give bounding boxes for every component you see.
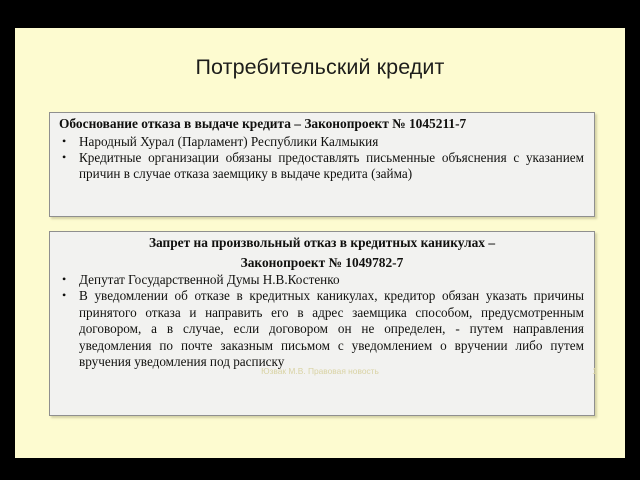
content-box-bill-1045211: Обоснование отказа в выдаче кредита – За… (49, 112, 595, 217)
box1-bullet-list: Народный Хурал (Парламент) Республики Ка… (50, 133, 594, 183)
footer-credit: Юзвак М.В. Правовая новость (15, 366, 625, 376)
list-item: В уведомлении об отказе в кредитных кани… (59, 288, 584, 370)
presentation-viewport: Потребительский кредит Обоснование отказ… (0, 0, 640, 480)
box2-heading-line-2: Законопроект № 1049782-7 (50, 252, 594, 272)
list-item: Кредитные организации обязаны предоставл… (59, 150, 584, 183)
slide-canvas: Потребительский кредит Обоснование отказ… (15, 28, 625, 458)
page-number: 1 (592, 366, 597, 376)
box2-bullet-list: Депутат Государственной Думы Н.В.Костенк… (50, 271, 594, 370)
box1-heading: Обоснование отказа в выдаче кредита – За… (50, 113, 594, 133)
page-title: Потребительский кредит (15, 55, 625, 80)
list-item: Народный Хурал (Парламент) Республики Ка… (59, 134, 584, 150)
list-item: Депутат Государственной Думы Н.В.Костенк… (59, 272, 584, 288)
box2-heading-line-1: Запрет на произвольный отказ в кредитных… (50, 232, 594, 252)
slide-footer: Юзвак М.В. Правовая новость 1 (15, 366, 625, 380)
content-box-bill-1049782: Запрет на произвольный отказ в кредитных… (49, 231, 595, 416)
